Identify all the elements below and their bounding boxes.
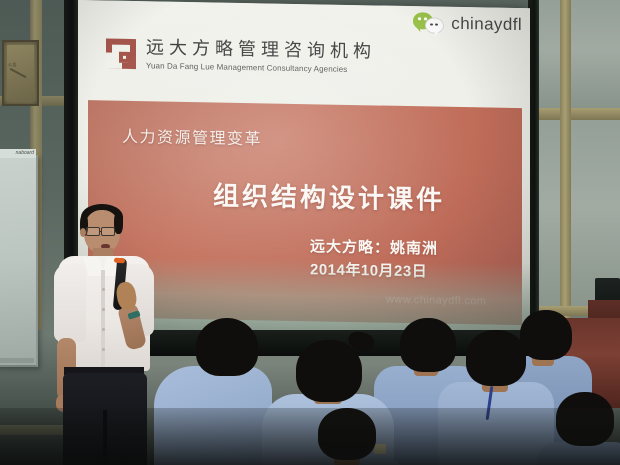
slide-subheading: 人力资源管理变革 [122, 123, 262, 150]
speaker-shirt-button [102, 348, 105, 351]
audience-head [400, 318, 456, 372]
wechat-eye2-left-icon [430, 23, 432, 25]
glasses-bridge-icon [100, 231, 102, 232]
presentation-photo: 公告 naboard chinaydfl [0, 0, 620, 465]
audience-head [520, 310, 572, 360]
brand-logo-row: 远大方略管理咨询机构 Yuan Da Fang Lue Management C… [106, 36, 376, 77]
whiteboard-tray [0, 358, 34, 363]
microphone-accent-band [114, 258, 125, 264]
slide-presenter-line: 远大方略：姚南洲 [310, 235, 438, 258]
audience-head [466, 330, 526, 386]
wall-poster-text: 公告 [8, 62, 17, 67]
wall-poster: 公告 [2, 40, 39, 106]
wechat-bubble-white-icon [425, 17, 444, 33]
company-logo-icon [106, 39, 136, 70]
wall-mullion-vertical [560, 0, 571, 318]
speaker-shirt-button [102, 328, 105, 331]
glasses-lens-left-icon [86, 227, 100, 236]
audience-head [196, 318, 258, 376]
wechat-badge: chinaydfl [413, 12, 522, 36]
speaker-shirt-button [102, 288, 105, 291]
wechat-account-name: chinaydfl [451, 14, 522, 35]
wechat-icon [413, 12, 447, 35]
glasses-lens-right-icon [101, 227, 115, 236]
speaker-hair-side-right [114, 212, 123, 234]
room-floor-shadow [0, 408, 620, 465]
logo-inner-square [119, 52, 130, 63]
speaker-sleeve-left [54, 264, 86, 342]
speaker-shirt-button [102, 308, 105, 311]
wall-mullion-horizontal [539, 108, 620, 120]
brand-text-block: 远大方略管理咨询机构 Yuan Da Fang Lue Management C… [146, 36, 376, 76]
brand-name-cn: 远大方略管理咨询机构 [146, 36, 376, 62]
whiteboard-brand-label: naboard [0, 149, 36, 158]
wechat-eye2-right-icon [435, 24, 437, 26]
speaker-shirt-placket [101, 270, 105, 370]
whiteboard [0, 155, 38, 367]
audience-head [296, 340, 362, 402]
wechat-eye-left-icon [418, 17, 421, 20]
slide-main-heading: 组织结构设计课件 [213, 175, 445, 216]
wall-panel-right-upper [539, 0, 620, 110]
brand-name-en: Yuan Da Fang Lue Management Consultancy … [146, 60, 376, 76]
